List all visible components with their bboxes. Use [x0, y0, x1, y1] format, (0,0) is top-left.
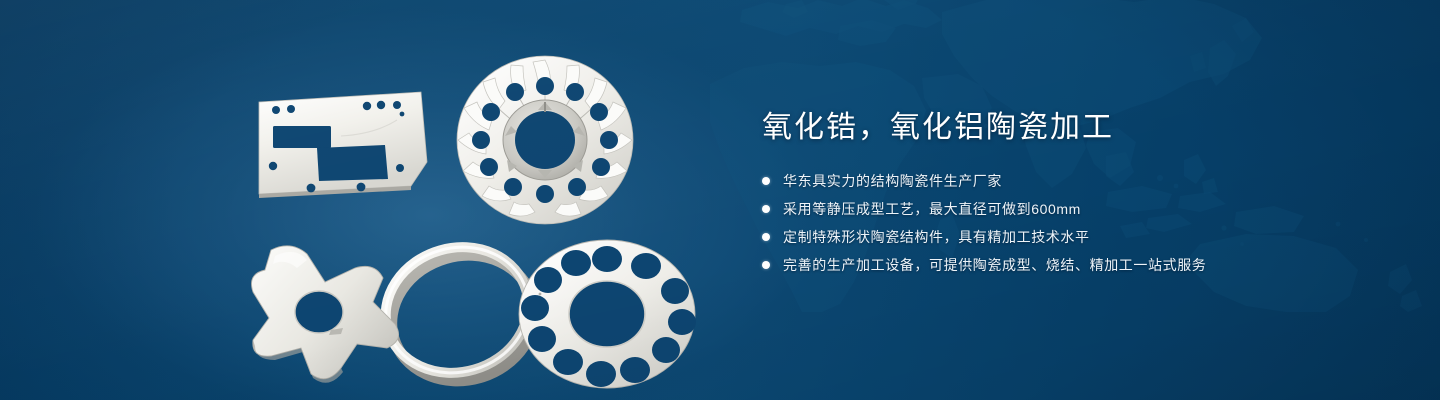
banner-copy-block: 氧化锆，氧化铝陶瓷加工 华东具实力的结构陶瓷件生产厂家 采用等静压成型工艺，最大… — [762, 108, 1382, 282]
list-item: 完善的生产加工设备，可提供陶瓷成型、烧结、精加工一站式服务 — [762, 254, 1382, 276]
list-item: 华东具实力的结构陶瓷件生产厂家 — [762, 170, 1382, 192]
hero-banner: 氧化锆，氧化铝陶瓷加工 华东具实力的结构陶瓷件生产厂家 采用等静压成型工艺，最大… — [0, 0, 1440, 400]
feature-text: 华东具实力的结构陶瓷件生产厂家 — [783, 171, 1002, 191]
dot-bullet-icon — [762, 205, 770, 213]
dot-bullet-icon — [762, 233, 770, 241]
list-item: 定制特殊形状陶瓷结构件，具有精加工技术水平 — [762, 226, 1382, 248]
feature-text: 完善的生产加工设备，可提供陶瓷成型、烧结、精加工一站式服务 — [783, 255, 1206, 275]
list-item: 采用等静压成型工艺，最大直径可做到600mm — [762, 198, 1382, 220]
feature-text: 定制特殊形状陶瓷结构件，具有精加工技术水平 — [783, 227, 1090, 247]
dot-bullet-icon — [762, 177, 770, 185]
feature-list: 华东具实力的结构陶瓷件生产厂家 采用等静压成型工艺，最大直径可做到600mm 定… — [762, 170, 1382, 276]
page-title: 氧化锆，氧化铝陶瓷加工 — [762, 108, 1382, 148]
dot-bullet-icon — [762, 261, 770, 269]
feature-text: 采用等静压成型工艺，最大直径可做到600mm — [783, 199, 1081, 219]
